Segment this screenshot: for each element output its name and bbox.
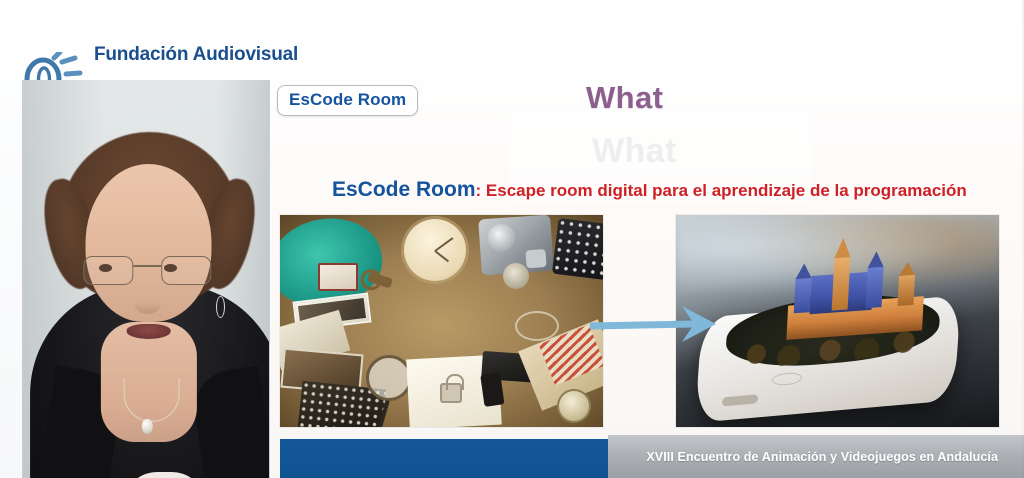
desk-surface: [280, 215, 603, 427]
slide-ghost-title: What: [592, 132, 677, 171]
castle-spire-4: [899, 262, 916, 276]
wooden-box-icon: [318, 263, 358, 291]
slide-title: What: [586, 80, 663, 116]
slide-badge-escode-room[interactable]: EsCode Room: [277, 85, 418, 116]
pocket-watch-icon: [557, 389, 591, 423]
phone-scene: [676, 215, 999, 427]
castle-spire-2: [834, 237, 851, 258]
magnifying-glass-icon: [366, 355, 412, 401]
wall-clock-icon: [404, 219, 466, 281]
castle-tower-4: [897, 275, 915, 306]
castle-tower-2: [832, 257, 851, 310]
screen-root: Fundación Audiovisual Pública Andaluza: [0, 0, 1024, 478]
slide-subtitle: EsCode Room: Escape room digital para el…: [332, 178, 992, 202]
blazer-lapel-right: [189, 365, 270, 478]
typewriter-icon: [552, 218, 603, 280]
film-spool-icon: [503, 263, 529, 289]
presenter-nose: [135, 294, 161, 314]
presenter-mouth: [127, 324, 171, 339]
presentation-slide[interactable]: EsCode Room What What EsCode Room: Escap…: [272, 60, 1024, 478]
castle-tower-1: [794, 278, 812, 313]
glasses-bridge: [133, 265, 161, 267]
slide-subtitle-brand: EsCode Room: [332, 178, 476, 201]
slide-image-phone-castle: [676, 215, 999, 427]
padlock-icon: [440, 383, 462, 403]
presenter-video-feed[interactable]: [22, 80, 270, 478]
pendant-icon: [142, 419, 153, 434]
brand-title-line1: Fundación Audiovisual: [94, 44, 298, 66]
slide-footer-banner: XVIII Encuentro de Animación y Videojueg…: [608, 435, 1024, 478]
glasses-lens-left: [83, 256, 133, 285]
slide-subtitle-rest: : Escape room digital para el aprendizaj…: [476, 181, 967, 200]
key-icon: [367, 272, 393, 289]
earring-icon: [216, 296, 225, 318]
castle-spire-1: [796, 263, 813, 279]
castle-icon: [778, 262, 931, 341]
slide-image-detective-desk: [280, 215, 603, 427]
castle-tower-3: [866, 267, 884, 308]
slide-footer-text: XVIII Encuentro de Animación y Videojueg…: [646, 450, 998, 464]
glasses-lens-right: [161, 256, 211, 285]
presenter-shirt: [129, 472, 199, 478]
glasses-icon: [83, 256, 211, 286]
slide-footer-blue-bar: [280, 439, 608, 478]
castle-spire-3: [868, 251, 885, 268]
